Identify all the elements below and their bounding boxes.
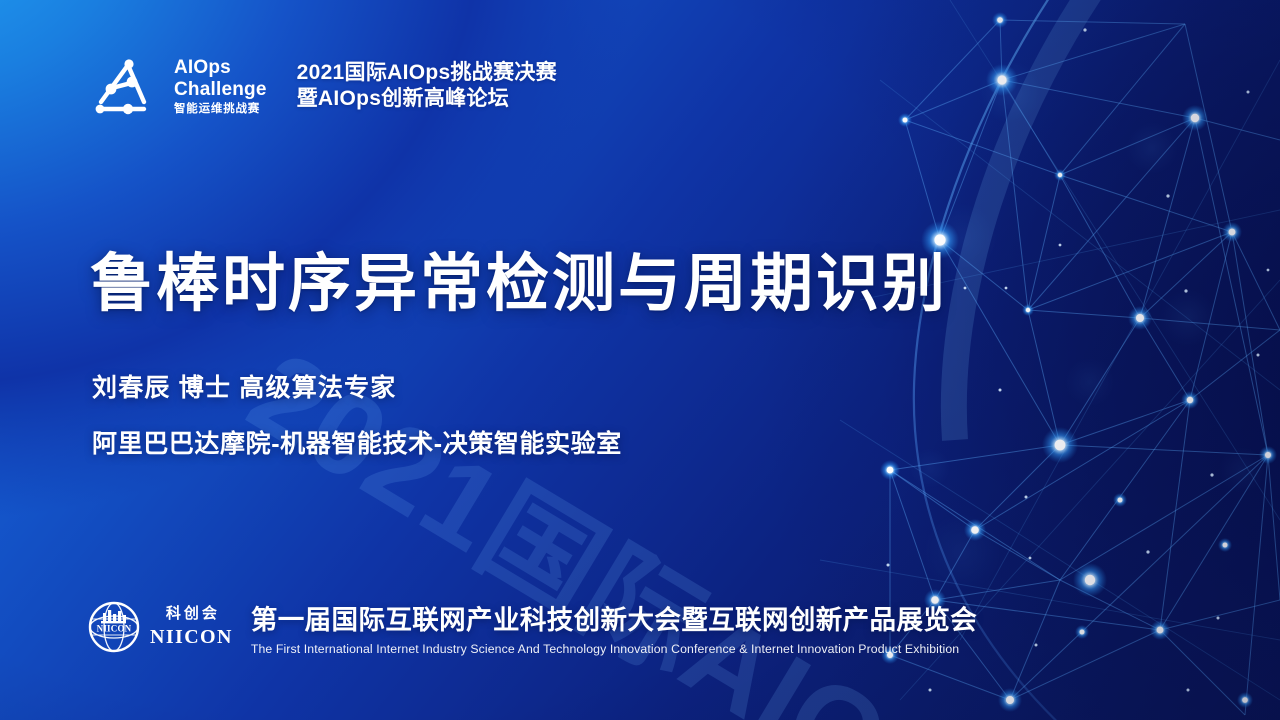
conference-name-english: The First International Internet Industr… [251, 642, 977, 656]
svg-text:NIICON: NIICON [97, 624, 132, 634]
niicon-globe-emblem-icon: NIICON [88, 601, 140, 653]
event-title-block: 2021国际AIOps挑战赛决赛 暨AIOps创新高峰论坛 [297, 60, 557, 112]
presentation-slide: 2021国际AIOps挑战赛 AIOps Challenge 智能运维挑战赛 [0, 0, 1280, 720]
brand-line-chinese: 智能运维挑战赛 [174, 104, 267, 116]
event-title-line2: 暨AIOps创新高峰论坛 [297, 86, 557, 112]
niicon-english-name: NIICON [150, 627, 233, 647]
conference-name-chinese: 第一届国际互联网产业科技创新大会暨互联网创新产品展览会 [251, 598, 977, 637]
slide-title: 鲁棒时序异常检测与周期识别 [90, 233, 948, 324]
presenter-name: 刘春辰 博士 高级算法专家 [92, 368, 622, 404]
aiops-challenge-logo-icon [86, 52, 158, 120]
presenter-affiliation: 阿里巴巴达摩院-机器智能技术-决策智能实验室 [92, 424, 622, 460]
conference-footer: NIICON 科创会 NIICON 第一届国际互联网产业科技创新大会暨互联网创新… [88, 598, 977, 656]
presenter-block: 刘春辰 博士 高级算法专家 阿里巴巴达摩院-机器智能技术-决策智能实验室 [92, 368, 622, 460]
niicon-chinese-name: 科创会 [163, 607, 220, 622]
brand-wordmark: AIOps Challenge 智能运维挑战赛 [174, 56, 267, 116]
brand-line-challenge: Challenge [174, 80, 267, 99]
niicon-wordmark: 科创会 NIICON [150, 607, 233, 647]
event-header: AIOps Challenge 智能运维挑战赛 2021国际AIOps挑战赛决赛… [86, 52, 557, 120]
event-title-line1: 2021国际AIOps挑战赛决赛 [297, 60, 557, 86]
brand-line-aiops: AIOps [174, 58, 267, 77]
conference-name-block: 第一届国际互联网产业科技创新大会暨互联网创新产品展览会 The First In… [251, 598, 977, 656]
